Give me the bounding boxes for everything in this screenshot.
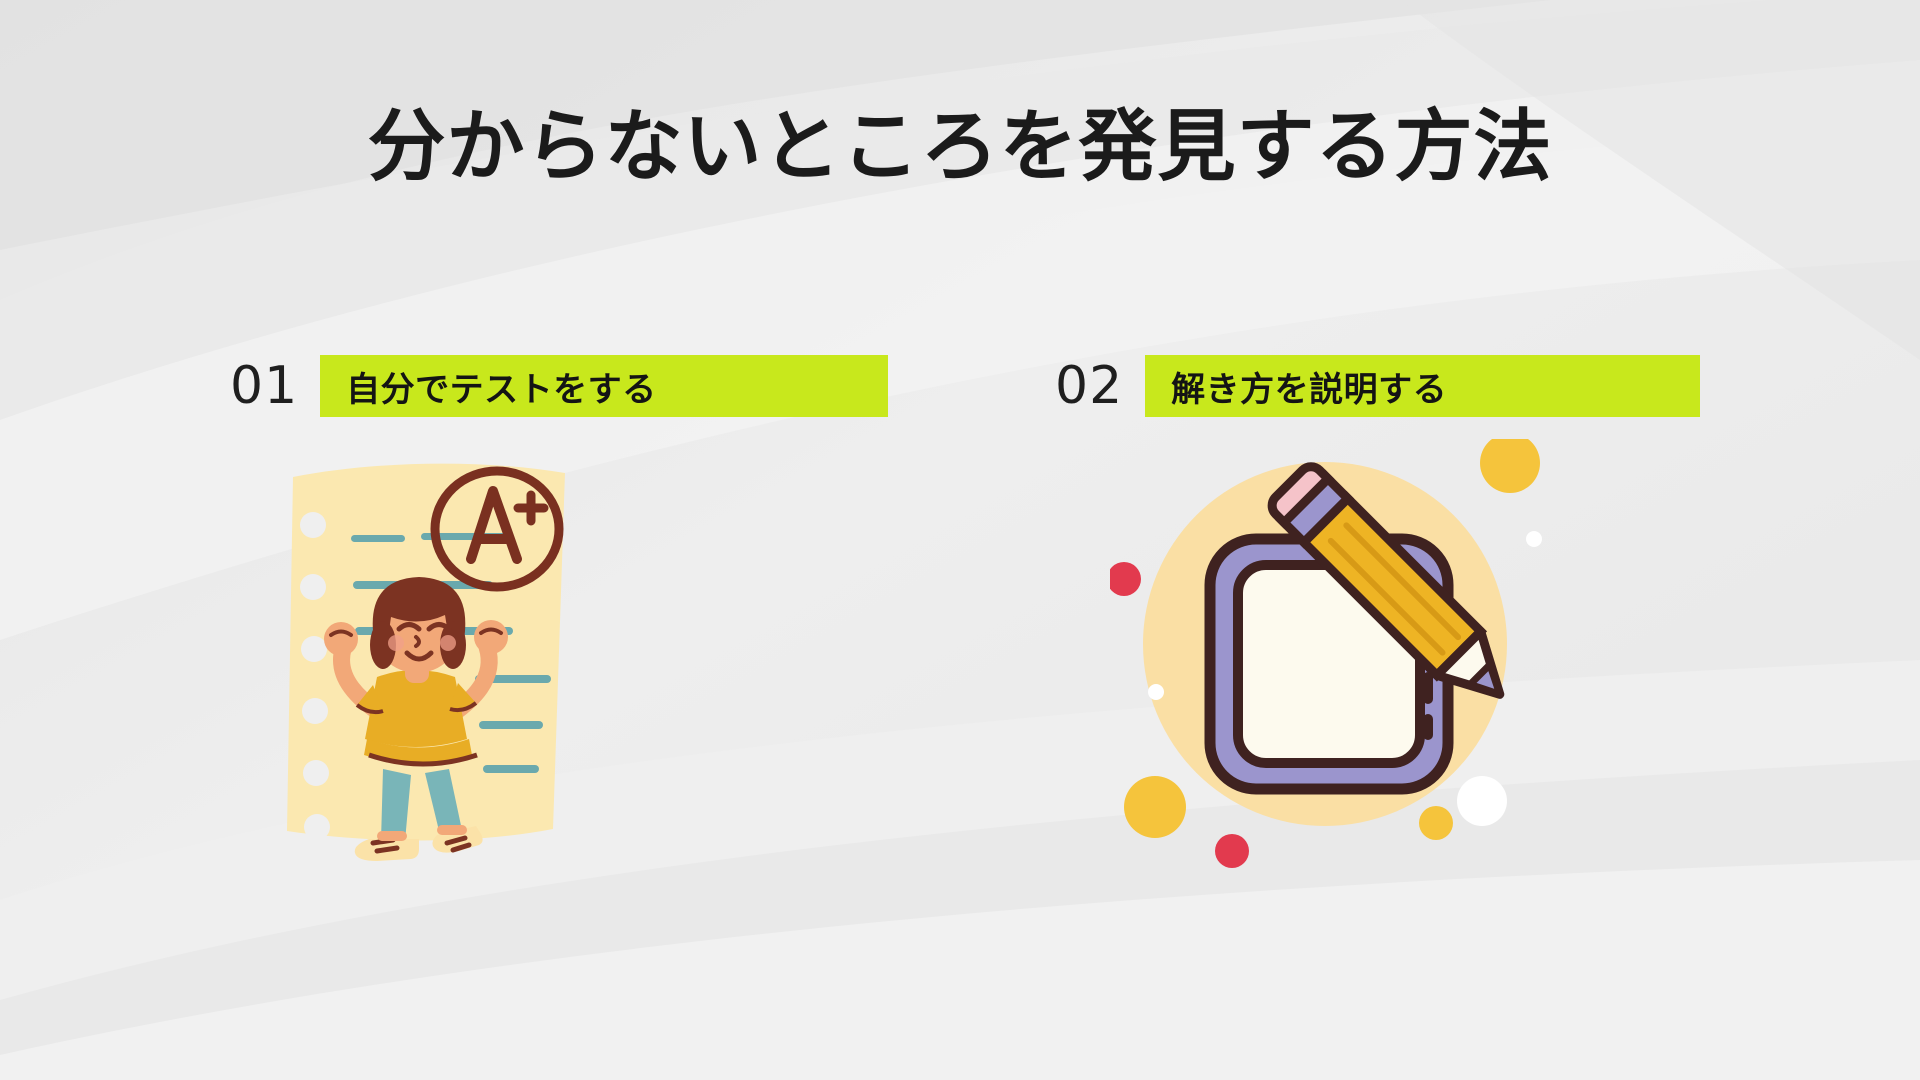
- dot-yellow-top-right: [1480, 439, 1540, 493]
- dot-white-bottom-right: [1457, 776, 1507, 826]
- dot-white-right: [1526, 531, 1542, 547]
- card-01-label-text: 自分でテストをする: [346, 362, 657, 411]
- dot-red-left: [1110, 562, 1141, 596]
- card-01-label-bar: 自分でテストをする: [320, 355, 888, 417]
- card-02-label-text: 解き方を説明する: [1171, 362, 1447, 411]
- card-02-illustration: [1055, 439, 1715, 869]
- dot-red-bottom: [1215, 834, 1249, 868]
- card-01-number: 01: [230, 355, 320, 417]
- card-02: 02 解き方を説明する: [1055, 355, 1715, 869]
- card-01-illustration: [230, 439, 890, 869]
- dot-yellow-bottom-left: [1124, 776, 1186, 838]
- test-paper-celebrating-girl-icon: [265, 439, 685, 869]
- card-02-label-bar: 解き方を説明する: [1145, 355, 1700, 417]
- card-01: 01 自分でテストをする: [230, 355, 890, 869]
- dot-white-left: [1148, 684, 1164, 700]
- note-and-pencil-icon: [1110, 439, 1550, 869]
- page-title: 分からないところを発見する方法: [0, 108, 1920, 186]
- card-01-header: 01 自分でテストをする: [230, 355, 890, 417]
- card-02-number: 02: [1055, 355, 1145, 417]
- slide-canvas: 分からないところを発見する方法 01 自分でテストをする: [0, 0, 1920, 1080]
- card-02-header: 02 解き方を説明する: [1055, 355, 1715, 417]
- dot-yellow-bottom-right: [1419, 806, 1453, 840]
